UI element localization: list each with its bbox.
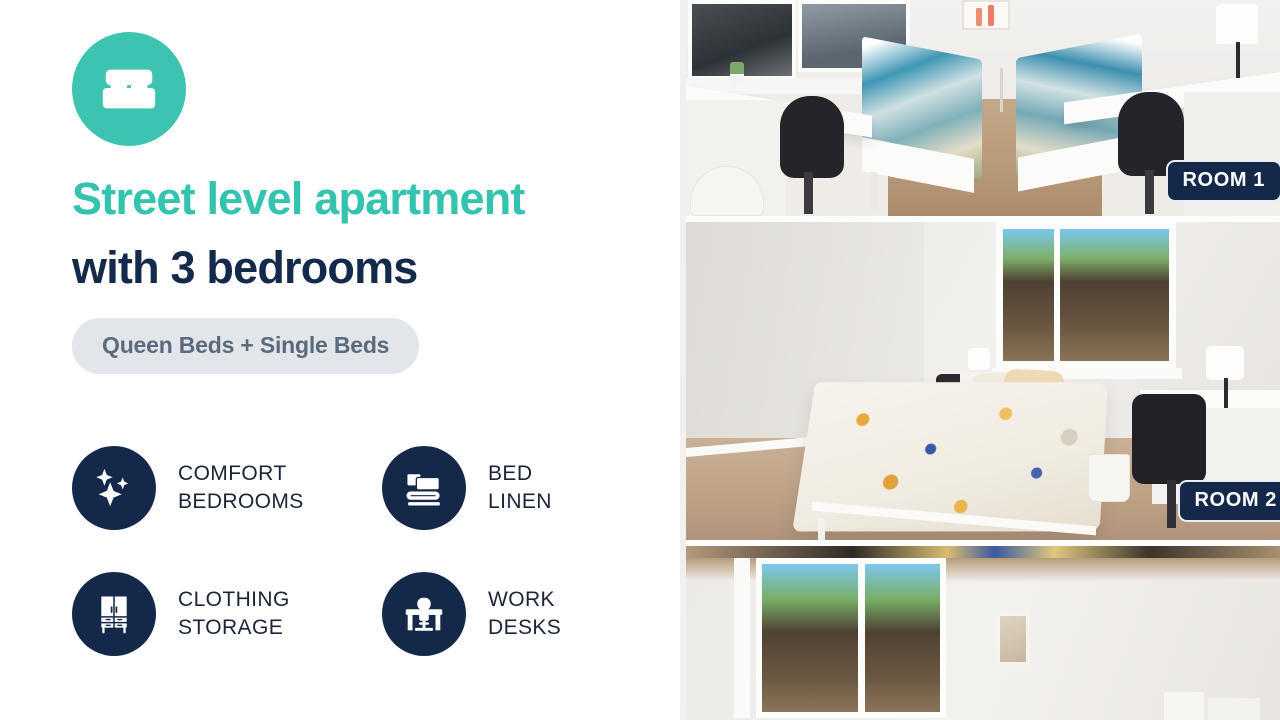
feature-label: CLOTHING STORAGE: [178, 586, 290, 641]
feature-list: COMFORT BEDROOMS BED LINEN: [72, 446, 636, 656]
room-badge: ROOM 1: [1166, 160, 1280, 202]
room-3-image: [686, 546, 1280, 720]
feature-bed-linen: BED LINEN: [382, 446, 692, 530]
headline-block: Street level apartment with 3 bedrooms: [72, 176, 636, 290]
info-panel: Street level apartment with 3 bedrooms Q…: [0, 0, 686, 720]
feature-comfort-bedrooms: COMFORT BEDROOMS: [72, 446, 382, 530]
bed-icon: [72, 32, 186, 146]
page-subtitle: with 3 bedrooms: [72, 245, 636, 290]
photo-room-3[interactable]: [686, 546, 1280, 720]
photo-gallery: ROOM 1: [686, 0, 1280, 720]
feature-label: BED LINEN: [488, 460, 552, 515]
promo-card: Street level apartment with 3 bedrooms Q…: [0, 0, 1280, 720]
room-badge: ROOM 2: [1178, 480, 1280, 522]
desk-icon: [382, 572, 466, 656]
bed-type-badge: Queen Beds + Single Beds: [72, 318, 419, 374]
wardrobe-icon: [72, 572, 156, 656]
feature-label: COMFORT BEDROOMS: [178, 460, 304, 515]
photo-room-1[interactable]: ROOM 1: [686, 0, 1280, 216]
sparkles-icon: [72, 446, 156, 530]
linen-icon: [382, 446, 466, 530]
photo-room-2[interactable]: ROOM 2: [686, 222, 1280, 540]
feature-label: WORK DESKS: [488, 586, 561, 641]
feature-work-desks: WORK DESKS: [382, 572, 692, 656]
page-title: Street level apartment: [72, 176, 636, 221]
feature-clothing-storage: CLOTHING STORAGE: [72, 572, 382, 656]
